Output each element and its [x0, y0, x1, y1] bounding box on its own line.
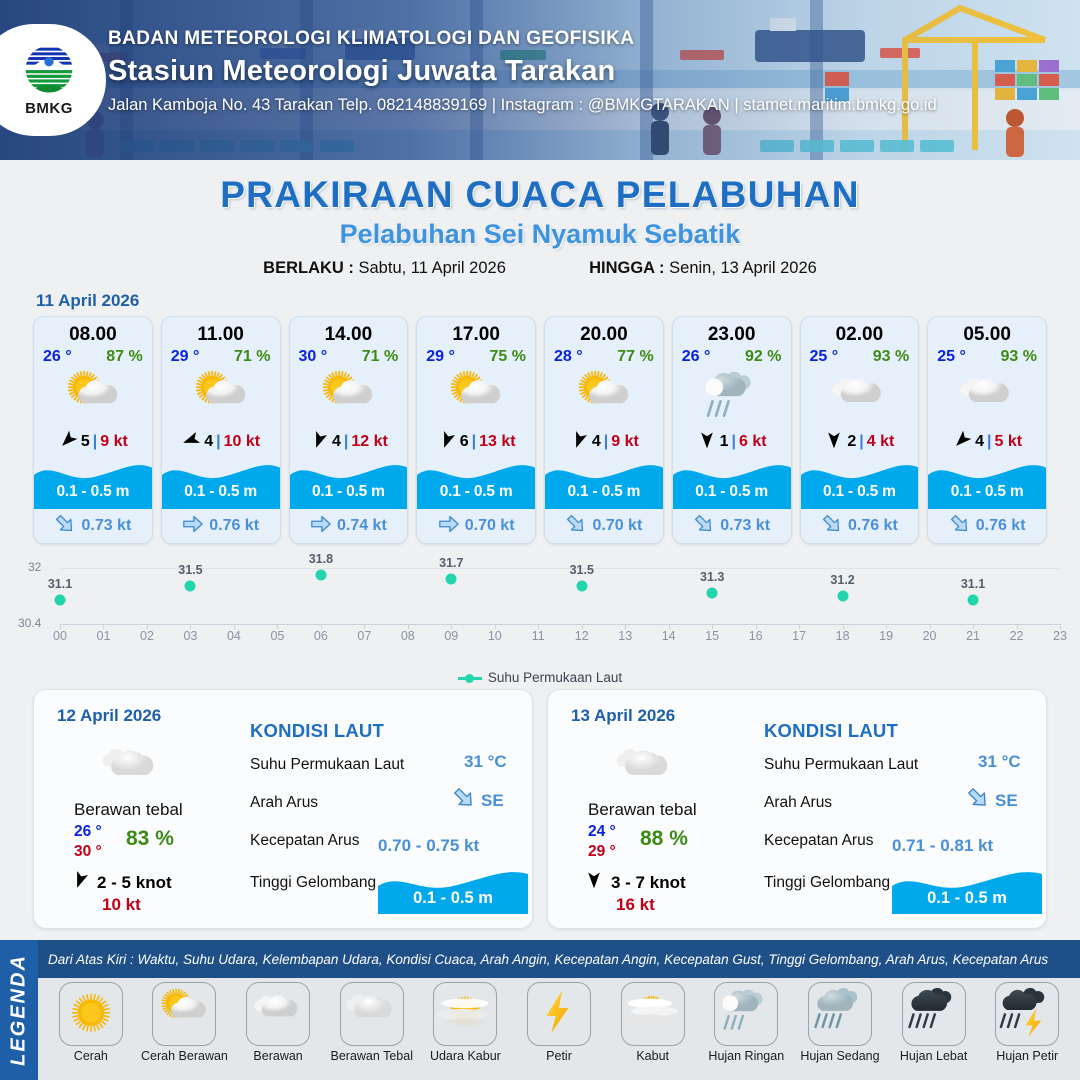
- berawan-tebal-icon: [342, 984, 402, 1045]
- bmkg-logo-text: BMKG: [25, 100, 73, 117]
- data-point-label: 31.8: [309, 552, 333, 566]
- x-axis-tick-label: 23: [1053, 629, 1067, 643]
- data-point: [707, 587, 718, 598]
- wind-separator: |: [859, 433, 863, 451]
- weather-condition-icon: [92, 738, 170, 805]
- x-axis-tick-label: 18: [836, 629, 850, 643]
- x-axis-tick-label: 14: [662, 629, 676, 643]
- wind-speed: 4: [204, 433, 213, 451]
- air-temperature: 25 °: [937, 348, 966, 366]
- current-direction-arrow-icon: [966, 786, 990, 815]
- wind-separator: |: [472, 433, 476, 451]
- wind-separator: |: [732, 433, 736, 451]
- current-direction-block: SE: [452, 786, 504, 815]
- data-point-label: 31.2: [830, 573, 854, 587]
- wave-height-block: 0.1 - 0.5 m: [162, 457, 280, 509]
- legend-side-bar: LEGENDA: [0, 940, 38, 1080]
- data-point: [576, 580, 587, 591]
- current-speed: 0.70 kt: [592, 517, 642, 535]
- forecast-card: 08.00 26 ° 87 % 5 | 9 kt 0.1 - 0.5 m 0.7…: [33, 316, 153, 544]
- weather-condition-icon: [673, 367, 791, 427]
- humidity: 87 %: [106, 348, 142, 366]
- current-speed-value: 0.71 - 0.81 kt: [892, 836, 993, 856]
- data-point: [185, 580, 196, 591]
- weather-condition-icon: [606, 738, 684, 805]
- x-axis-tick-label: 09: [444, 629, 458, 643]
- x-axis-tick-label: 06: [314, 629, 328, 643]
- legend-item-label: Petir: [512, 1049, 606, 1063]
- legend-item: Cerah: [44, 982, 138, 1063]
- legend-item: Cerah Berawan: [138, 982, 232, 1063]
- legend-item-label: Hujan Lebat: [887, 1049, 981, 1063]
- forecast-card: 02.00 25 ° 93 % 2 | 4 kt 0.1 - 0.5 m 0.7…: [800, 316, 920, 544]
- sea-surface-temperature-value: 31 °C: [978, 752, 1021, 772]
- hujan-ringan-icon: [716, 984, 776, 1045]
- air-temperature: 25 °: [810, 348, 839, 366]
- wind-row: 4 | 5 kt: [928, 427, 1046, 457]
- legend-icon-box: [995, 982, 1059, 1046]
- wind-speed: 5: [81, 433, 90, 451]
- legend-icon-box: [621, 982, 685, 1046]
- cerah-berawan-icon: [154, 984, 214, 1045]
- wave-height-block: 0.1 - 0.5 m: [34, 457, 152, 509]
- temperature-min: 24 °: [588, 823, 616, 841]
- valid-from-value: Sabtu, 11 April 2026: [359, 259, 506, 277]
- wind-direction-arrow-icon: [437, 430, 457, 455]
- current-direction-arrow-icon: [821, 513, 843, 540]
- forecast-time: 17.00: [417, 317, 535, 346]
- humidity: 83 %: [126, 827, 174, 851]
- forecast-card: 05.00 25 ° 93 % 4 | 5 kt 0.1 - 0.5 m 0.7…: [927, 316, 1047, 544]
- current-row: 0.76 kt: [801, 509, 919, 543]
- humidity: 93 %: [873, 348, 909, 366]
- wind-direction-arrow-icon: [824, 430, 844, 455]
- header-contact-line: Jalan Kamboja No. 43 Tarakan Telp. 08214…: [108, 96, 937, 115]
- humidity: 71 %: [234, 348, 270, 366]
- title-block: PRAKIRAAN CUACA PELABUHAN Pelabuhan Sei …: [0, 160, 1080, 278]
- sea-condition-label: Tinggi Gelombang: [250, 874, 376, 892]
- humidity: 92 %: [745, 348, 781, 366]
- header-org-line: BADAN METEOROLOGI KLIMATOLOGI DAN GEOFIS…: [108, 28, 937, 50]
- forecast-card-list: 08.00 26 ° 87 % 5 | 9 kt 0.1 - 0.5 m 0.7…: [0, 316, 1080, 544]
- humidity: 88 %: [640, 827, 688, 851]
- legend-item-label: Hujan Sedang: [793, 1049, 887, 1063]
- x-axis-tick-label: 15: [705, 629, 719, 643]
- legend-item-label: Hujan Petir: [980, 1049, 1074, 1063]
- wave-height-block: 0.1 - 0.5 m: [801, 457, 919, 509]
- gust-speed: 9 kt: [611, 433, 639, 451]
- x-axis-tick-label: 01: [97, 629, 111, 643]
- wave-height-value: 0.1 - 0.5 m: [928, 483, 1046, 501]
- wind-separator: |: [93, 433, 97, 451]
- wind-direction-arrow-icon: [697, 430, 717, 455]
- current-direction-arrow-icon: [438, 513, 460, 540]
- weather-condition-icon: [417, 367, 535, 427]
- legend-icon-box: [246, 982, 310, 1046]
- gust-speed: 10 kt: [102, 895, 141, 915]
- legend-item: Hujan Lebat: [887, 982, 981, 1063]
- current-row: 0.70 kt: [545, 509, 663, 543]
- sea-condition-title: KONDISI LAUT: [250, 720, 384, 742]
- wave-height-block: 0.1 - 0.5 m: [928, 457, 1046, 509]
- temperature-min: 26 °: [74, 823, 102, 841]
- sea-condition-label: Arah Arus: [764, 794, 832, 812]
- page-header: BMKG BADAN METEOROLOGI KLIMATOLOGI DAN G…: [0, 0, 1080, 160]
- legend-item-label: Kabut: [606, 1049, 700, 1063]
- humidity: 71 %: [362, 348, 398, 366]
- x-axis-tick-label: 00: [53, 629, 67, 643]
- daily-forecast-panels: 12 April 2026 Berawan tebal 26 ° 30 ° 83…: [0, 689, 1080, 929]
- current-direction-arrow-icon: [310, 513, 332, 540]
- wind-row: 4 | 12 kt: [290, 427, 408, 457]
- wind-separator: |: [604, 433, 608, 451]
- forecast-time: 02.00: [801, 317, 919, 346]
- y-axis-tick-min: 30.4: [18, 616, 41, 630]
- wave-height-value: 0.1 - 0.5 m: [162, 483, 280, 501]
- forecast-day-label: 11 April 2026: [36, 291, 1080, 311]
- air-temperature: 26 °: [43, 348, 72, 366]
- x-axis-tick-label: 22: [1010, 629, 1024, 643]
- sst-legend-label: Suhu Permukaan Laut: [488, 670, 622, 685]
- legend-icon-box: [714, 982, 778, 1046]
- sea-condition-label: Suhu Permukaan Laut: [250, 756, 404, 774]
- current-direction-arrow-icon: [54, 513, 76, 540]
- current-row: 0.76 kt: [928, 509, 1046, 543]
- forecast-time: 20.00: [545, 317, 663, 346]
- air-temperature: 28 °: [554, 348, 583, 366]
- valid-from-label: BERLAKU :: [263, 259, 354, 277]
- data-point: [315, 570, 326, 581]
- x-axis-tick-label: 13: [618, 629, 632, 643]
- current-row: 0.73 kt: [34, 509, 152, 543]
- data-point-label: 31.1: [48, 577, 72, 591]
- wind-direction-arrow-icon: [58, 430, 78, 455]
- legend-item: Petir: [512, 982, 606, 1063]
- legend-item-label: Cerah Berawan: [138, 1049, 232, 1063]
- wave-height-value: 0.1 - 0.5 m: [801, 483, 919, 501]
- legend-icon-box: [59, 982, 123, 1046]
- wind-speed: 4: [975, 433, 984, 451]
- gust-speed: 5 kt: [995, 433, 1023, 451]
- current-speed: 0.74 kt: [337, 517, 387, 535]
- data-point: [446, 573, 457, 584]
- wave-height-block: 0.1 - 0.5 m: [545, 457, 663, 509]
- daily-forecast-panel: 12 April 2026 Berawan tebal 26 ° 30 ° 83…: [33, 689, 533, 929]
- legend-item: Kabut: [606, 982, 700, 1063]
- sea-condition-label: Suhu Permukaan Laut: [764, 756, 918, 774]
- wave-height-value: 0.1 - 0.5 m: [892, 889, 1042, 908]
- x-axis-tick-label: 17: [792, 629, 806, 643]
- current-direction-value: SE: [481, 791, 504, 811]
- gust-speed: 12 kt: [351, 433, 387, 451]
- temperature-max: 29 °: [588, 843, 616, 861]
- legend-icon-box: [433, 982, 497, 1046]
- wind-direction-arrow-icon: [952, 430, 972, 455]
- x-axis-tick-label: 10: [488, 629, 502, 643]
- forecast-time: 23.00: [673, 317, 791, 346]
- legend-title: LEGENDA: [8, 954, 31, 1066]
- x-axis-tick-label: 03: [183, 629, 197, 643]
- series-marker-icon: [458, 677, 482, 680]
- weather-condition-text: Berawan tebal: [588, 800, 697, 820]
- udara-kabur-icon: [435, 984, 495, 1045]
- current-row: 0.73 kt: [673, 509, 791, 543]
- gust-speed: 10 kt: [224, 433, 260, 451]
- valid-to-value: Senin, 13 April 2026: [669, 259, 817, 277]
- wind-speed-range: 3 - 7 knot: [611, 873, 686, 893]
- forecast-time: 08.00: [34, 317, 152, 346]
- weather-condition-icon: [928, 367, 1046, 427]
- forecast-card: 23.00 26 ° 92 % 1 | 6 kt 0.1 - 0.5 m 0.7…: [672, 316, 792, 544]
- wave-height-value: 0.1 - 0.5 m: [417, 483, 535, 501]
- current-speed: 0.76 kt: [848, 517, 898, 535]
- current-speed: 0.73 kt: [720, 517, 770, 535]
- legend-item: Hujan Sedang: [793, 982, 887, 1063]
- x-axis-tick-label: 20: [923, 629, 937, 643]
- weather-condition-icon: [545, 367, 663, 427]
- current-speed: 0.70 kt: [465, 517, 515, 535]
- wind-row: 4 | 9 kt: [545, 427, 663, 457]
- wind-speed: 6: [460, 433, 469, 451]
- legend-item-label: Berawan: [231, 1049, 325, 1063]
- wind-direction-arrow-icon: [70, 870, 90, 895]
- sea-condition-title: KONDISI LAUT: [764, 720, 898, 742]
- wind-speed-range: 2 - 5 knot: [97, 873, 172, 893]
- legend-icon-box: [152, 982, 216, 1046]
- legend-item-label: Hujan Ringan: [699, 1049, 793, 1063]
- daily-forecast-panel: 13 April 2026 Berawan tebal 24 ° 29 ° 88…: [547, 689, 1047, 929]
- legend-icon-box: [527, 982, 591, 1046]
- sst-chart-legend: Suhu Permukaan Laut: [0, 670, 1080, 685]
- x-axis-tick-label: 12: [575, 629, 589, 643]
- wind-speed: 2: [847, 433, 856, 451]
- header-text-block: BADAN METEOROLOGI KLIMATOLOGI DAN GEOFIS…: [108, 28, 937, 115]
- wind-row: 1 | 6 kt: [673, 427, 791, 457]
- validity-row: BERLAKU : Sabtu, 11 April 2026 HINGGA : …: [0, 259, 1080, 278]
- sea-condition-label: Kecepatan Arus: [764, 832, 873, 850]
- x-axis-tick-label: 16: [749, 629, 763, 643]
- wind-separator: |: [216, 433, 220, 451]
- x-axis-tick-label: 05: [270, 629, 284, 643]
- x-axis-tick-label: 07: [357, 629, 371, 643]
- valid-to-label: HINGGA :: [589, 259, 664, 277]
- x-axis-tick-label: 19: [879, 629, 893, 643]
- legend-item: Berawan Tebal: [325, 982, 419, 1063]
- forecast-time: 14.00: [290, 317, 408, 346]
- gust-speed: 9 kt: [100, 433, 128, 451]
- wind-row: 5 | 9 kt: [34, 427, 152, 457]
- x-axis-tick-label: 21: [966, 629, 980, 643]
- data-point-label: 31.7: [439, 556, 463, 570]
- forecast-time: 11.00: [162, 317, 280, 346]
- legend-item-label: Cerah: [44, 1049, 138, 1063]
- wind-direction-arrow-icon: [181, 430, 201, 455]
- wind-row: 4 | 10 kt: [162, 427, 280, 457]
- forecast-card: 11.00 29 ° 71 % 4 | 10 kt 0.1 - 0.5 m 0.…: [161, 316, 281, 544]
- wave-height-value: 0.1 - 0.5 m: [378, 889, 528, 908]
- wave-height-block: 0.1 - 0.5 m: [673, 457, 791, 509]
- data-point-label: 31.5: [178, 563, 202, 577]
- wave-height-value: 0.1 - 0.5 m: [545, 483, 663, 501]
- wind-row: 2 | 4 kt: [801, 427, 919, 457]
- data-point-label: 31.5: [570, 563, 594, 577]
- current-direction-arrow-icon: [949, 513, 971, 540]
- air-temperature: 29 °: [171, 348, 200, 366]
- legend-icon-box: [340, 982, 404, 1046]
- temperature-max: 30 °: [74, 843, 102, 861]
- air-temperature: 30 °: [299, 348, 328, 366]
- wave-height-block: 0.1 - 0.5 m: [290, 457, 408, 509]
- sst-chart-plot: 3230.40001020304050607080910111213141516…: [60, 562, 1060, 634]
- hujan-petir-icon: [997, 984, 1057, 1045]
- air-temperature: 26 °: [682, 348, 711, 366]
- wave-height-block: 0.1 - 0.5 m: [892, 868, 1042, 914]
- wind-direction-arrow-icon: [584, 870, 604, 895]
- wind-row: 3 - 7 knot: [584, 870, 686, 895]
- wind-direction-arrow-icon: [569, 430, 589, 455]
- legend-icon-box: [902, 982, 966, 1046]
- wind-speed: 1: [720, 433, 729, 451]
- wave-height-value: 0.1 - 0.5 m: [290, 483, 408, 501]
- legend-item: Hujan Petir: [980, 982, 1074, 1063]
- sea-surface-temperature-value: 31 °C: [464, 752, 507, 772]
- hujan-lebat-icon: [904, 984, 964, 1045]
- humidity: 93 %: [1001, 348, 1037, 366]
- current-row: 0.70 kt: [417, 509, 535, 543]
- wind-speed: 4: [592, 433, 601, 451]
- current-direction-arrow-icon: [693, 513, 715, 540]
- forecast-time: 05.00: [928, 317, 1046, 346]
- weather-condition-text: Berawan tebal: [74, 800, 183, 820]
- data-point: [55, 594, 66, 605]
- gust-speed: 13 kt: [479, 433, 515, 451]
- sea-condition-label: Tinggi Gelombang: [764, 874, 890, 892]
- legend-item-label: Berawan Tebal: [325, 1049, 419, 1063]
- forecast-card: 20.00 28 ° 77 % 4 | 9 kt 0.1 - 0.5 m 0.7…: [544, 316, 664, 544]
- wave-height-value: 0.1 - 0.5 m: [673, 483, 791, 501]
- gust-speed: 4 kt: [867, 433, 895, 451]
- legend-item: Berawan: [231, 982, 325, 1063]
- current-direction-arrow-icon: [182, 513, 204, 540]
- y-axis-tick-max: 32: [28, 560, 41, 574]
- hujan-sedang-icon: [810, 984, 870, 1045]
- x-axis-tick-label: 04: [227, 629, 241, 643]
- wind-separator: |: [987, 433, 991, 451]
- legend-note: Dari Atas Kiri : Waktu, Suhu Udara, Kele…: [38, 940, 1080, 978]
- current-row: 0.74 kt: [290, 509, 408, 543]
- panel-date: 12 April 2026: [57, 706, 161, 726]
- legend-item: Hujan Ringan: [699, 982, 793, 1063]
- wind-row: 2 - 5 knot: [70, 870, 172, 895]
- berawan-icon: [248, 984, 308, 1045]
- data-point: [837, 591, 848, 602]
- current-direction-arrow-icon: [452, 786, 476, 815]
- page-subtitle: Pelabuhan Sei Nyamuk Sebatik: [0, 219, 1080, 250]
- gust-speed: 6 kt: [739, 433, 767, 451]
- current-direction-arrow-icon: [565, 513, 587, 540]
- sea-condition-label: Kecepatan Arus: [250, 832, 359, 850]
- current-direction-block: SE: [966, 786, 1018, 815]
- data-point-label: 31.3: [700, 570, 724, 584]
- page-title: PRAKIRAAN CUACA PELABUHAN: [0, 174, 1080, 216]
- wind-speed: 4: [332, 433, 341, 451]
- wave-height-block: 0.1 - 0.5 m: [417, 457, 535, 509]
- weather-condition-icon: [801, 367, 919, 427]
- weather-condition-icon: [162, 367, 280, 427]
- humidity: 75 %: [490, 348, 526, 366]
- legend-section: LEGENDA Dari Atas Kiri : Waktu, Suhu Uda…: [0, 940, 1080, 1080]
- sst-chart: 3230.40001020304050607080910111213141516…: [0, 558, 1080, 668]
- header-station-name: Stasiun Meteorologi Juwata Tarakan: [108, 55, 937, 88]
- x-axis-tick-label: 08: [401, 629, 415, 643]
- current-direction-value: SE: [995, 791, 1018, 811]
- wind-row: 6 | 13 kt: [417, 427, 535, 457]
- panel-date: 13 April 2026: [571, 706, 675, 726]
- sea-condition-label: Arah Arus: [250, 794, 318, 812]
- wind-separator: |: [344, 433, 348, 451]
- x-axis-tick-label: 11: [532, 629, 545, 643]
- weather-condition-icon: [34, 367, 152, 427]
- x-axis-tick-label: 02: [140, 629, 154, 643]
- forecast-card: 14.00 30 ° 71 % 4 | 12 kt 0.1 - 0.5 m 0.…: [289, 316, 409, 544]
- legend-icon-box: [808, 982, 872, 1046]
- current-speed-value: 0.70 - 0.75 kt: [378, 836, 479, 856]
- humidity: 77 %: [617, 348, 653, 366]
- kabut-icon: [623, 984, 683, 1045]
- bmkg-logo-icon: [21, 43, 77, 99]
- petir-icon: [529, 984, 589, 1045]
- current-speed: 0.73 kt: [81, 517, 131, 535]
- weather-condition-icon: [290, 367, 408, 427]
- air-temperature: 29 °: [426, 348, 455, 366]
- legend-item-label: Udara Kabur: [419, 1049, 513, 1063]
- gust-speed: 16 kt: [616, 895, 655, 915]
- cerah-icon: [61, 984, 121, 1045]
- forecast-card: 17.00 29 ° 75 % 6 | 13 kt 0.1 - 0.5 m 0.…: [416, 316, 536, 544]
- current-speed: 0.76 kt: [976, 517, 1026, 535]
- current-row: 0.76 kt: [162, 509, 280, 543]
- data-point-label: 31.1: [961, 577, 985, 591]
- current-speed: 0.76 kt: [209, 517, 259, 535]
- wind-direction-arrow-icon: [309, 430, 329, 455]
- legend-item: Udara Kabur: [419, 982, 513, 1063]
- legend-item-list: Cerah Cerah Berawan Berawan Berawan Teba…: [38, 978, 1080, 1080]
- grid-line-top: [60, 568, 1060, 569]
- data-point: [968, 594, 979, 605]
- wave-height-value: 0.1 - 0.5 m: [34, 483, 152, 501]
- wave-height-block: 0.1 - 0.5 m: [378, 868, 528, 914]
- x-axis-line: [60, 624, 1060, 625]
